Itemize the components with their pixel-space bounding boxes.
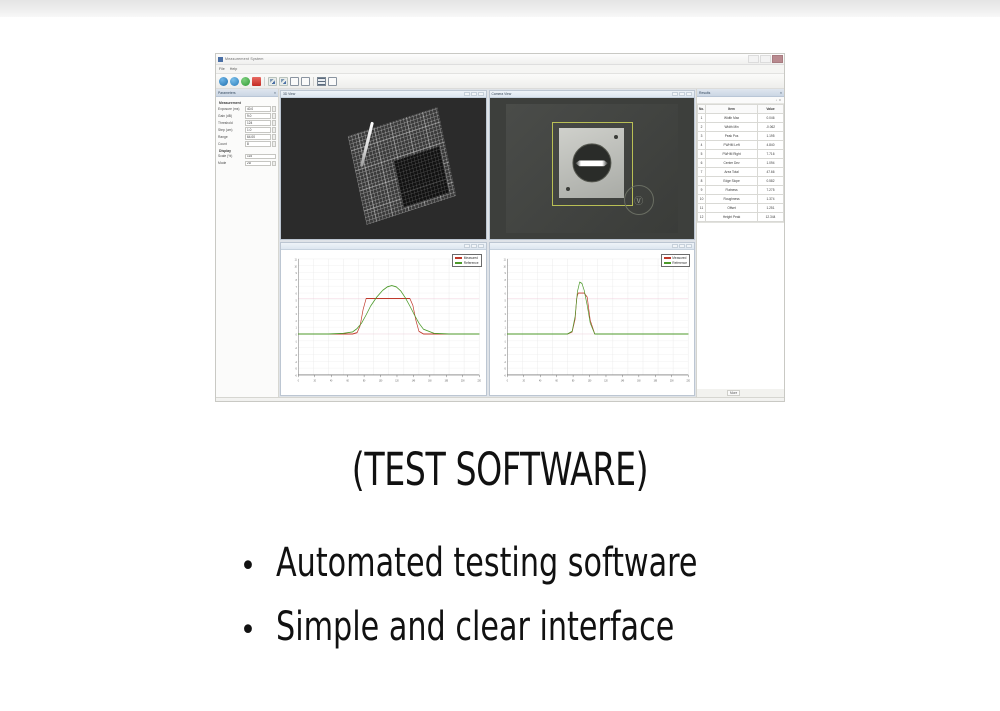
table-row[interactable]: 11Offset1.251 [698, 204, 784, 213]
table-row[interactable]: 2Width Min-0.062 [698, 123, 784, 132]
menu-item-help[interactable]: Help [230, 67, 237, 71]
camera-background: Ⓥ [506, 104, 678, 234]
bullet-list: • Automated testing software • Simple an… [240, 540, 960, 668]
chart-right-legend: Measured Reference [661, 254, 690, 267]
cell-value: 1.251 [758, 204, 784, 213]
stepper-icon[interactable] [272, 161, 276, 167]
cell-item: Peak Pos [706, 132, 758, 141]
cell-item: Offset [706, 204, 758, 213]
toolbar-separator [264, 77, 265, 86]
stepper-icon[interactable] [272, 120, 276, 126]
property-label: Scale (%) [218, 154, 244, 158]
grid-view-icon[interactable] [317, 77, 326, 86]
results-title: Results [699, 91, 710, 95]
property-row[interactable]: Exposure (ms) 40.0 [218, 106, 276, 112]
stepper-icon[interactable] [272, 113, 276, 119]
legend-label-reference: Reference [672, 261, 687, 265]
legend-entry: Measured [664, 256, 687, 260]
status-bar: Ready [216, 397, 784, 402]
cell-item: FWHM Left [706, 141, 758, 150]
table-row[interactable]: 12Height Peak12.344 [698, 213, 784, 222]
connect-icon[interactable] [219, 77, 228, 86]
stop-icon[interactable] [252, 77, 261, 86]
top-decorative-band [0, 0, 1000, 17]
minimize-button[interactable] [748, 55, 759, 63]
table-header-row: No. Item Value [698, 105, 784, 114]
results-footer: More [697, 389, 784, 397]
group-label-measurement: Measurement [219, 101, 276, 105]
cell-item: Center Dev [706, 159, 758, 168]
watermark-stamp: Ⓥ [624, 185, 654, 215]
properties-close-icon[interactable]: × [274, 91, 276, 95]
svg-text:100: 100 [379, 379, 383, 382]
cell-item: FWHM Right [706, 150, 758, 159]
column-header-item: Item [706, 105, 758, 114]
legend-entry: Reference [455, 261, 478, 265]
svg-text:120: 120 [395, 379, 399, 382]
legend-label-measured: Measured [464, 256, 478, 260]
view-camera-canvas[interactable]: Ⓥ [490, 98, 695, 239]
results-toolbar[interactable]: ↓ ≡ [697, 97, 784, 104]
property-row[interactable]: Step (um) 1.0 [218, 127, 276, 133]
workspace: Parameters × Measurement Exposure (ms) 4… [216, 89, 784, 397]
view-3d-minimize-button[interactable] [464, 92, 470, 97]
stepper-icon[interactable] [272, 141, 276, 147]
chart-left-close-button[interactable] [478, 244, 484, 249]
mesh-shadow-region [393, 146, 449, 207]
svg-text:120: 120 [604, 379, 608, 382]
cell-value: 0.582 [758, 177, 784, 186]
chart-left-header [281, 243, 486, 250]
view-3d-title: 3D View [283, 92, 295, 96]
chart-left-svg: 11109876543210-1-2-3-4-5-602040608010012… [281, 250, 486, 395]
table-row[interactable]: 10Roughness1.374 [698, 195, 784, 204]
property-value-field[interactable]: 64.00 [245, 134, 271, 140]
legend-entry: Measured [455, 256, 478, 260]
legend-entry: Reference [664, 261, 687, 265]
svg-text:140: 140 [620, 379, 624, 382]
svg-text:140: 140 [412, 379, 416, 382]
table-row[interactable]: 5FWHM Right7.716 [698, 150, 784, 159]
fiducial-dot [614, 135, 618, 139]
chart-left-buttons[interactable] [464, 244, 484, 249]
fiducial-dot [566, 187, 570, 191]
profile-chart-right-panel: 11109876543210-1-2-3-4-5-602040608010012… [489, 242, 696, 396]
cell-value: 1.374 [758, 195, 784, 204]
cell-no: 8 [698, 177, 706, 186]
svg-text:200: 200 [670, 379, 674, 382]
chart-left-legend: Measured Reference [452, 254, 481, 267]
properties-title: Parameters [218, 91, 236, 95]
cell-item: Roughness [706, 195, 758, 204]
view-3d-canvas[interactable] [281, 98, 486, 239]
group-label-display: Display [219, 149, 276, 153]
chart-right-buttons[interactable] [672, 244, 692, 249]
menu-item-file[interactable]: File [219, 67, 225, 71]
stepper-icon[interactable] [272, 127, 276, 133]
close-button[interactable] [772, 55, 783, 63]
svg-text:180: 180 [445, 379, 449, 382]
svg-text:160: 160 [637, 379, 641, 382]
property-value-field[interactable]: 40.0 [245, 106, 271, 112]
table-row[interactable]: 6Center Dev1.094 [698, 159, 784, 168]
legend-swatch-reference [455, 262, 462, 263]
results-table-body: 1Width Max0.0462Width Min-0.0623Peak Pos… [698, 114, 784, 222]
cell-value: 1.094 [758, 159, 784, 168]
export-icon[interactable] [328, 77, 337, 86]
cell-value: 7.275 [758, 186, 784, 195]
property-label: Exposure (ms) [218, 107, 244, 111]
view-camera-buttons[interactable] [672, 92, 692, 97]
legend-swatch-measured [455, 257, 462, 258]
toolbar-separator [313, 77, 314, 86]
chart-right-svg: 11109876543210-1-2-3-4-5-602040608010012… [490, 250, 695, 395]
window-title: Measurement System [225, 57, 264, 61]
svg-text:100: 100 [587, 379, 591, 382]
svg-text:220: 220 [686, 379, 690, 382]
view-3d-maximize-button[interactable] [471, 92, 477, 97]
sort-icon[interactable]: ↓ [776, 98, 778, 102]
toolbar[interactable] [216, 74, 784, 89]
view-camera-close-button[interactable] [686, 92, 692, 97]
results-panel: Results × ↓ ≡ No. Item Value 1Widt [696, 89, 784, 397]
properties-panel: Parameters × Measurement Exposure (ms) 4… [216, 89, 279, 397]
line-tool-icon[interactable] [268, 77, 277, 86]
column-header-value: Value [758, 105, 784, 114]
rect-tool-icon[interactable] [290, 77, 299, 86]
measurement-slit [575, 160, 608, 166]
upper-view-row: 3D View [279, 89, 696, 241]
cell-value: 12.344 [758, 213, 784, 222]
cell-item: Edge Slope [706, 177, 758, 186]
application-screenshot: Measurement System File Help [215, 53, 785, 402]
property-label: Count [218, 142, 244, 146]
property-row[interactable]: Count 8 [218, 141, 276, 147]
cell-item: Area Total [706, 168, 758, 177]
bullet-marker: • [240, 616, 256, 646]
view-3d-buttons[interactable] [464, 92, 484, 97]
view-camera-header: Camera View [490, 91, 695, 98]
polyline-tool-icon[interactable] [279, 77, 288, 86]
menu-icon[interactable]: ≡ [779, 98, 781, 102]
table-row[interactable]: 1Width Max0.046 [698, 114, 784, 123]
maximize-button[interactable] [760, 55, 771, 63]
cell-no: 1 [698, 114, 706, 123]
property-row[interactable]: Threshold 124 [218, 120, 276, 126]
table-row[interactable]: 7Area Total47.66 [698, 168, 784, 177]
property-row[interactable]: Mode 2D [218, 161, 276, 167]
view-3d-panel: 3D View [280, 90, 487, 240]
connection-icon [220, 402, 225, 403]
results-header: Results × [697, 89, 784, 97]
stepper-icon[interactable] [272, 134, 276, 140]
settings-icon[interactable] [230, 77, 239, 86]
cell-value: 47.66 [758, 168, 784, 177]
menu-bar[interactable]: File Help [216, 65, 784, 74]
property-row[interactable]: Gain (dB) 9.0 [218, 113, 276, 119]
bullet-text: Simple and clear interface [276, 604, 674, 650]
chart-left-minimize-button[interactable] [464, 244, 470, 249]
cell-item: Width Min [706, 123, 758, 132]
legend-swatch-reference [664, 262, 671, 263]
legend-label-reference: Reference [464, 261, 479, 265]
table-row[interactable]: 4FWHM Left4.840 [698, 141, 784, 150]
cell-no: 6 [698, 159, 706, 168]
window-controls[interactable] [748, 55, 783, 63]
view-camera-panel: Camera View [489, 90, 696, 240]
properties-body: Measurement Exposure (ms) 40.0 Gain (dB)… [216, 97, 278, 397]
cell-value: 1.195 [758, 132, 784, 141]
view-camera-maximize-button[interactable] [679, 92, 685, 97]
property-value-field[interactable]: 8 [245, 141, 271, 147]
chart-right-plot[interactable]: 11109876543210-1-2-3-4-5-602040608010012… [490, 250, 695, 395]
view-camera-title: Camera View [492, 92, 512, 96]
cell-no: 4 [698, 141, 706, 150]
mesh-surface [347, 107, 455, 225]
cell-value: 4.840 [758, 141, 784, 150]
cell-no: 9 [698, 186, 706, 195]
target-part [559, 128, 624, 198]
results-table: No. Item Value 1Width Max0.0462Width Min… [697, 104, 784, 222]
roi-tool-icon[interactable] [301, 77, 310, 86]
run-icon[interactable] [241, 77, 250, 86]
cell-no: 3 [698, 132, 706, 141]
property-value-field[interactable]: 9.0 [245, 113, 271, 119]
cell-no: 10 [698, 195, 706, 204]
cell-no: 11 [698, 204, 706, 213]
view-stack: 3D View [279, 89, 696, 397]
property-label: Range [218, 135, 244, 139]
chart-right-minimize-button[interactable] [672, 244, 678, 249]
cell-value: -0.062 [758, 123, 784, 132]
cell-no: 7 [698, 168, 706, 177]
results-close-icon[interactable]: × [780, 91, 782, 95]
list-item: • Simple and clear interface [240, 604, 960, 650]
list-item: • Automated testing software [240, 540, 960, 586]
table-row[interactable]: 8Edge Slope0.582 [698, 177, 784, 186]
profile-chart-left-panel: 11109876543210-1-2-3-4-5-602040608010012… [280, 242, 487, 396]
svg-text:200: 200 [461, 379, 465, 382]
cell-item: Width Max [706, 114, 758, 123]
page-title: (TEST SOFTWARE) [90, 443, 910, 496]
property-value-field[interactable]: 124 [245, 120, 271, 126]
legend-label-measured: Measured [672, 256, 686, 260]
column-header-no: No. [698, 105, 706, 114]
cell-value: 0.046 [758, 114, 784, 123]
property-label: Threshold [218, 121, 244, 125]
app-icon [218, 57, 223, 62]
window-titlebar: Measurement System [216, 54, 784, 65]
lens-circle [572, 144, 611, 183]
view-camera-minimize-button[interactable] [672, 92, 678, 97]
property-label: Step (um) [218, 128, 244, 132]
property-value-field[interactable]: 2D [245, 161, 271, 167]
cell-no: 5 [698, 150, 706, 159]
cell-value: 7.716 [758, 150, 784, 159]
svg-text:220: 220 [478, 379, 482, 382]
table-row[interactable]: 3Peak Pos1.195 [698, 132, 784, 141]
chart-right-header [490, 243, 695, 250]
properties-header: Parameters × [216, 89, 278, 97]
lower-chart-row: 11109876543210-1-2-3-4-5-602040608010012… [279, 241, 696, 397]
bullet-marker: • [240, 552, 256, 582]
property-label: Mode [218, 161, 244, 165]
view-3d-header: 3D View [281, 91, 486, 98]
cell-item: Height Peak [706, 213, 758, 222]
cell-no: 12 [698, 213, 706, 222]
property-row[interactable]: Scale (%) 115 [218, 154, 276, 160]
bullet-text: Automated testing software [276, 540, 697, 586]
property-row[interactable]: Range 64.00 [218, 134, 276, 140]
results-empty-area [697, 222, 784, 389]
table-row[interactable]: 9Flatness7.275 [698, 186, 784, 195]
chart-left-plot[interactable]: 11109876543210-1-2-3-4-5-602040608010012… [281, 250, 486, 395]
chart-left-maximize-button[interactable] [471, 244, 477, 249]
property-label: Gain (dB) [218, 114, 244, 118]
svg-text:180: 180 [653, 379, 657, 382]
property-value-field[interactable]: 1.0 [245, 127, 271, 133]
cell-item: Flatness [706, 186, 758, 195]
view-3d-close-button[interactable] [478, 92, 484, 97]
results-more-button[interactable]: More [727, 390, 740, 396]
chart-right-close-button[interactable] [686, 244, 692, 249]
cell-no: 2 [698, 123, 706, 132]
legend-swatch-measured [664, 257, 671, 258]
svg-text:160: 160 [428, 379, 432, 382]
stepper-icon[interactable] [272, 106, 276, 112]
chart-right-maximize-button[interactable] [679, 244, 685, 249]
slide: Measurement System File Help [0, 0, 1000, 711]
property-value-field[interactable]: 115 [245, 154, 276, 160]
